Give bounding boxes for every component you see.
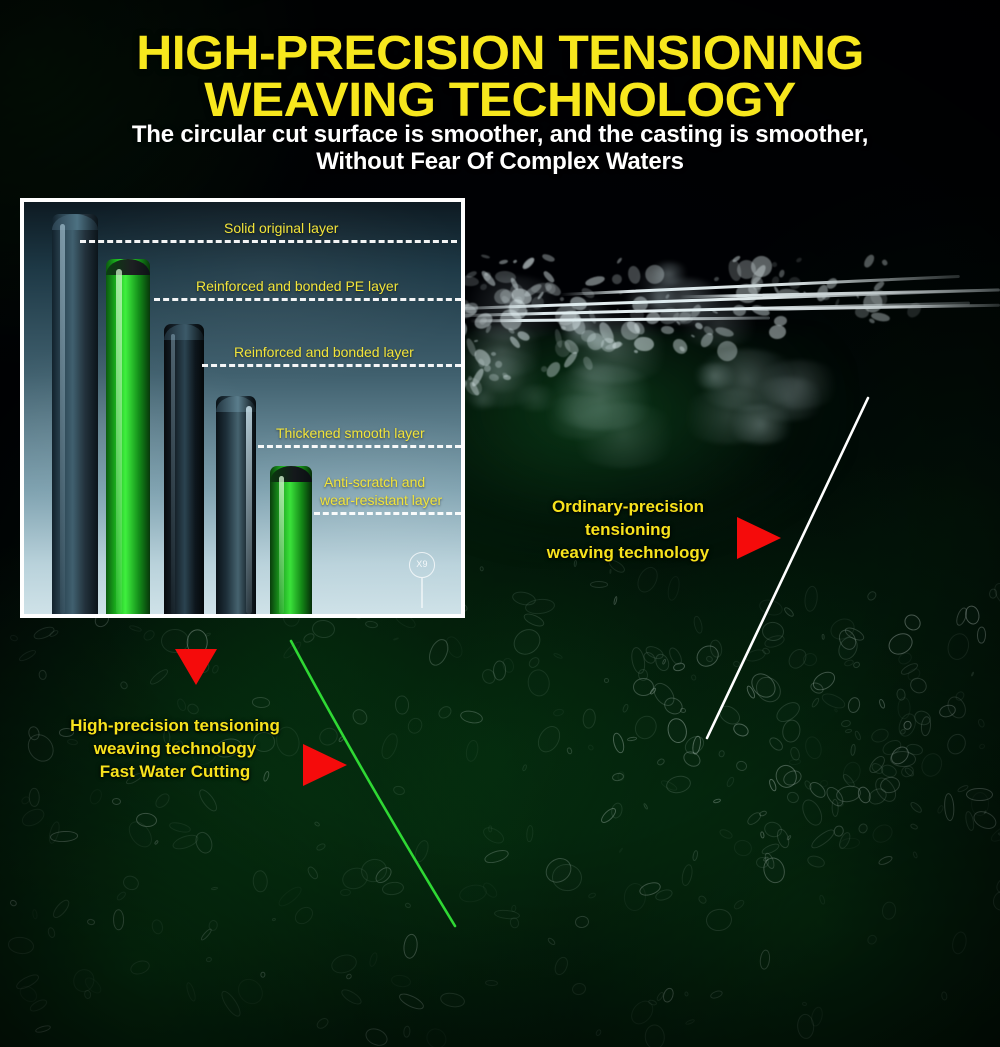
bubble	[142, 628, 157, 642]
bubble	[378, 731, 401, 762]
bubble	[340, 889, 351, 897]
bubble	[971, 671, 975, 677]
bubble	[802, 651, 819, 667]
bubble	[725, 776, 735, 788]
product-feature-poster: HIGH-PRECISION TENSIONING WEAVING TECHNO…	[0, 0, 1000, 1047]
bubble	[977, 718, 986, 728]
bubble	[381, 881, 404, 897]
bubble	[782, 606, 795, 619]
bubble	[732, 898, 746, 911]
bubble	[809, 1006, 825, 1028]
bubble	[806, 854, 826, 870]
bubble	[50, 897, 71, 920]
bubble	[552, 955, 570, 977]
bubble	[150, 918, 164, 935]
annotation-right-line-1: Ordinary-precision	[552, 497, 704, 516]
annotation-right-line-2: tensioning	[585, 520, 671, 539]
bubble	[587, 891, 596, 899]
bubble	[547, 936, 557, 946]
bubble	[185, 701, 201, 716]
bubble	[718, 828, 734, 841]
bubble	[759, 950, 771, 970]
bubble	[252, 870, 268, 893]
bubble	[610, 801, 625, 819]
bubble	[869, 820, 896, 846]
bubble	[368, 951, 379, 967]
bubble	[692, 850, 700, 862]
layer-label-1: Solid original layer	[224, 220, 338, 236]
bubble	[119, 680, 129, 691]
bubble	[613, 596, 618, 605]
bubble	[306, 865, 320, 881]
annotation-left-line-3: Fast Water Cutting	[100, 762, 250, 781]
bubble	[86, 918, 95, 926]
rod-braided-core	[52, 214, 98, 614]
bubble	[666, 575, 682, 602]
bubble	[732, 661, 740, 669]
bubble	[315, 842, 327, 852]
bubble	[611, 772, 624, 782]
bubble	[128, 958, 151, 977]
bubble	[945, 631, 973, 663]
bubble	[785, 790, 801, 805]
rod-smooth-layer	[216, 396, 256, 614]
bubble	[184, 982, 197, 1003]
bubble	[566, 746, 573, 754]
annotation-ordinary-precision: Ordinary-precision tensioning weaving te…	[528, 496, 728, 565]
bubble	[129, 624, 143, 632]
bubble	[896, 688, 907, 701]
bubble	[610, 568, 613, 574]
bubble	[465, 739, 480, 763]
bubble	[684, 1018, 695, 1025]
bubble	[964, 605, 981, 626]
annotation-left-line-2: weaving technology	[94, 739, 256, 758]
bubble	[276, 884, 305, 910]
layer-divider-5	[314, 512, 461, 515]
bubble	[18, 648, 38, 664]
bubble	[881, 901, 897, 920]
bubble	[656, 757, 666, 766]
bubble	[439, 991, 466, 1010]
bubble	[313, 821, 320, 828]
layer-divider-2	[154, 298, 461, 301]
layer-structure-diagram: Solid original layer Reinforced and bond…	[20, 198, 465, 618]
bubble	[148, 667, 170, 687]
bubble	[206, 957, 214, 964]
bubble	[758, 810, 767, 818]
rod-highlight	[246, 406, 252, 614]
bubble	[941, 991, 948, 1001]
bubble	[534, 722, 565, 757]
rod-highlight	[116, 269, 122, 614]
magnification-badge: X9	[409, 552, 435, 578]
bubble	[34, 1024, 51, 1034]
bubble	[944, 730, 970, 757]
bubble	[9, 634, 18, 642]
bubble	[644, 1024, 666, 1047]
bubble	[619, 847, 625, 854]
bubble	[350, 706, 371, 727]
bubble	[821, 633, 825, 639]
bubble	[944, 693, 970, 722]
layer-divider-4	[258, 445, 461, 448]
arrow-right-high-precision-icon	[303, 744, 347, 786]
subhead-line-1: The circular cut surface is smoother, an…	[132, 121, 868, 148]
bubble	[811, 696, 822, 708]
bubble	[574, 915, 589, 929]
headline-line-1: HIGH-PRECISION TENSIONING	[136, 27, 864, 80]
bubble	[582, 707, 597, 729]
bubble	[877, 855, 893, 867]
bubble	[315, 1015, 330, 1030]
bubble	[403, 1026, 411, 1039]
bubble	[846, 695, 861, 713]
bubble	[199, 927, 213, 942]
bubble	[571, 982, 587, 997]
bubble	[804, 734, 825, 760]
bubble	[168, 821, 192, 835]
bubble	[850, 743, 857, 756]
bubble	[412, 838, 431, 864]
bubble	[9, 899, 18, 907]
bubble	[979, 743, 986, 750]
bubble	[965, 788, 992, 802]
annotation-high-precision: High-precision tensioning weaving techno…	[50, 715, 300, 784]
bubble	[798, 797, 826, 830]
bubble	[508, 624, 545, 660]
bubble	[339, 986, 364, 1007]
bubble	[292, 904, 317, 928]
bubble	[483, 847, 510, 865]
bubble	[692, 615, 704, 635]
bubble	[841, 719, 853, 728]
bubble	[691, 674, 697, 681]
bubble	[909, 800, 925, 815]
arrow-right-ordinary-icon	[737, 517, 781, 559]
bubble	[767, 778, 778, 793]
bubble	[621, 703, 629, 713]
bubble	[604, 678, 610, 683]
layer-label-5b: wear-resistant layer	[320, 492, 442, 508]
bubble	[758, 597, 785, 618]
bubble	[595, 1028, 603, 1037]
bubble	[732, 721, 752, 739]
bubble	[153, 839, 158, 845]
rod-cap	[52, 214, 98, 230]
bubble	[950, 931, 969, 956]
bubble	[113, 910, 125, 931]
bubble	[397, 990, 426, 1012]
rod-cap	[106, 259, 150, 275]
bubble	[857, 822, 869, 835]
rod-anti-scratch	[270, 466, 312, 614]
bubble	[709, 989, 724, 1000]
bubble	[803, 585, 819, 613]
badge-stem	[421, 578, 423, 608]
bubble	[526, 825, 534, 843]
bubble	[404, 902, 412, 909]
bubble	[909, 822, 918, 830]
layer-divider-1	[80, 240, 457, 243]
bubble	[311, 619, 336, 639]
bubble	[521, 764, 527, 772]
bubble	[115, 890, 127, 902]
bubble	[672, 662, 685, 672]
bubble	[153, 790, 173, 810]
rod-highlight	[279, 476, 284, 614]
bubble	[936, 805, 944, 815]
bubble	[337, 735, 345, 743]
bubble	[32, 625, 56, 642]
bubble	[818, 895, 826, 906]
bubble	[626, 736, 636, 741]
layer-divider-3	[202, 364, 461, 367]
bubble	[345, 972, 353, 980]
rod-cap	[164, 324, 204, 340]
bubble	[718, 750, 725, 758]
layer-label-3: Reinforced and bonded layer	[234, 344, 414, 360]
bubble	[29, 788, 40, 807]
bubble	[735, 759, 749, 773]
bubble	[395, 695, 409, 714]
bubble	[590, 581, 608, 588]
bubble	[642, 802, 648, 810]
bubble	[211, 886, 218, 890]
bubble	[121, 873, 142, 892]
bubble	[943, 793, 955, 822]
layer-label-2: Reinforced and bonded PE layer	[196, 278, 398, 294]
bubble	[363, 1026, 390, 1047]
bubble	[260, 972, 266, 978]
bubble	[423, 1025, 451, 1047]
bubble	[865, 590, 878, 603]
bubble	[526, 668, 551, 698]
bubble	[854, 730, 862, 741]
bubble	[901, 612, 924, 635]
layer-label-4: Thickened smooth layer	[276, 425, 425, 441]
page-subtitle: The circular cut surface is smoother, an…	[0, 122, 1000, 176]
bubble	[459, 709, 484, 726]
subhead-line-2: Without Fear Of Complex Waters	[316, 148, 684, 175]
bubble	[481, 824, 508, 847]
bubble	[252, 697, 271, 709]
bubble	[665, 716, 688, 744]
annotation-right-line-3: weaving technology	[547, 543, 709, 562]
rod-highlight	[171, 334, 175, 614]
bubble	[988, 588, 997, 599]
bubble	[611, 731, 626, 754]
bubble	[553, 708, 566, 718]
bubble	[852, 661, 861, 669]
bubble	[809, 827, 837, 852]
bubble	[436, 704, 453, 721]
bubble	[195, 787, 220, 815]
bubble	[977, 627, 986, 644]
bubble	[485, 980, 498, 987]
bubble	[175, 697, 188, 712]
bubble	[281, 640, 304, 662]
bubble	[193, 829, 215, 855]
bubble	[233, 973, 268, 1008]
rod-dark-bonded	[164, 324, 204, 614]
headline-line-2: WEAVING TECHNOLOGY	[0, 77, 1000, 124]
annotation-left-line-1: High-precision tensioning	[70, 716, 280, 735]
bubble	[553, 652, 564, 660]
bubble	[32, 909, 38, 920]
bubble	[801, 1002, 807, 1007]
bubble	[680, 863, 694, 887]
bubble	[696, 894, 707, 905]
bubble	[527, 655, 542, 670]
bubble	[633, 564, 661, 596]
page-title: HIGH-PRECISION TENSIONING WEAVING TECHNO…	[0, 30, 1000, 124]
arrow-down-high-precision-icon	[175, 649, 217, 685]
bubble	[705, 908, 733, 933]
bubble	[7, 935, 35, 955]
bubble	[46, 926, 56, 938]
bubble	[480, 566, 485, 572]
bubble	[918, 750, 946, 779]
rod-green-pe	[106, 259, 150, 614]
bubble	[661, 986, 675, 1004]
bubble	[390, 974, 411, 989]
bubble	[684, 991, 689, 997]
bubble	[19, 806, 47, 830]
bubble	[365, 620, 379, 629]
bubble	[39, 669, 48, 680]
bubble	[392, 785, 406, 797]
bubble	[393, 637, 399, 641]
rod-cap	[270, 466, 312, 482]
bubble	[587, 743, 594, 750]
bubble	[664, 774, 692, 796]
bubble	[406, 716, 425, 736]
bubble	[112, 798, 122, 806]
bubble	[402, 933, 419, 960]
layer-label-5a: Anti-scratch and	[324, 474, 425, 490]
bubble	[271, 917, 276, 922]
bubble	[878, 699, 886, 710]
bubble	[912, 851, 918, 859]
bubble	[713, 798, 722, 804]
bubble	[329, 952, 359, 976]
rod-highlight	[60, 224, 65, 614]
bubble	[866, 933, 880, 947]
bubble	[87, 787, 104, 807]
bubble	[845, 729, 853, 734]
bubble	[732, 838, 753, 858]
